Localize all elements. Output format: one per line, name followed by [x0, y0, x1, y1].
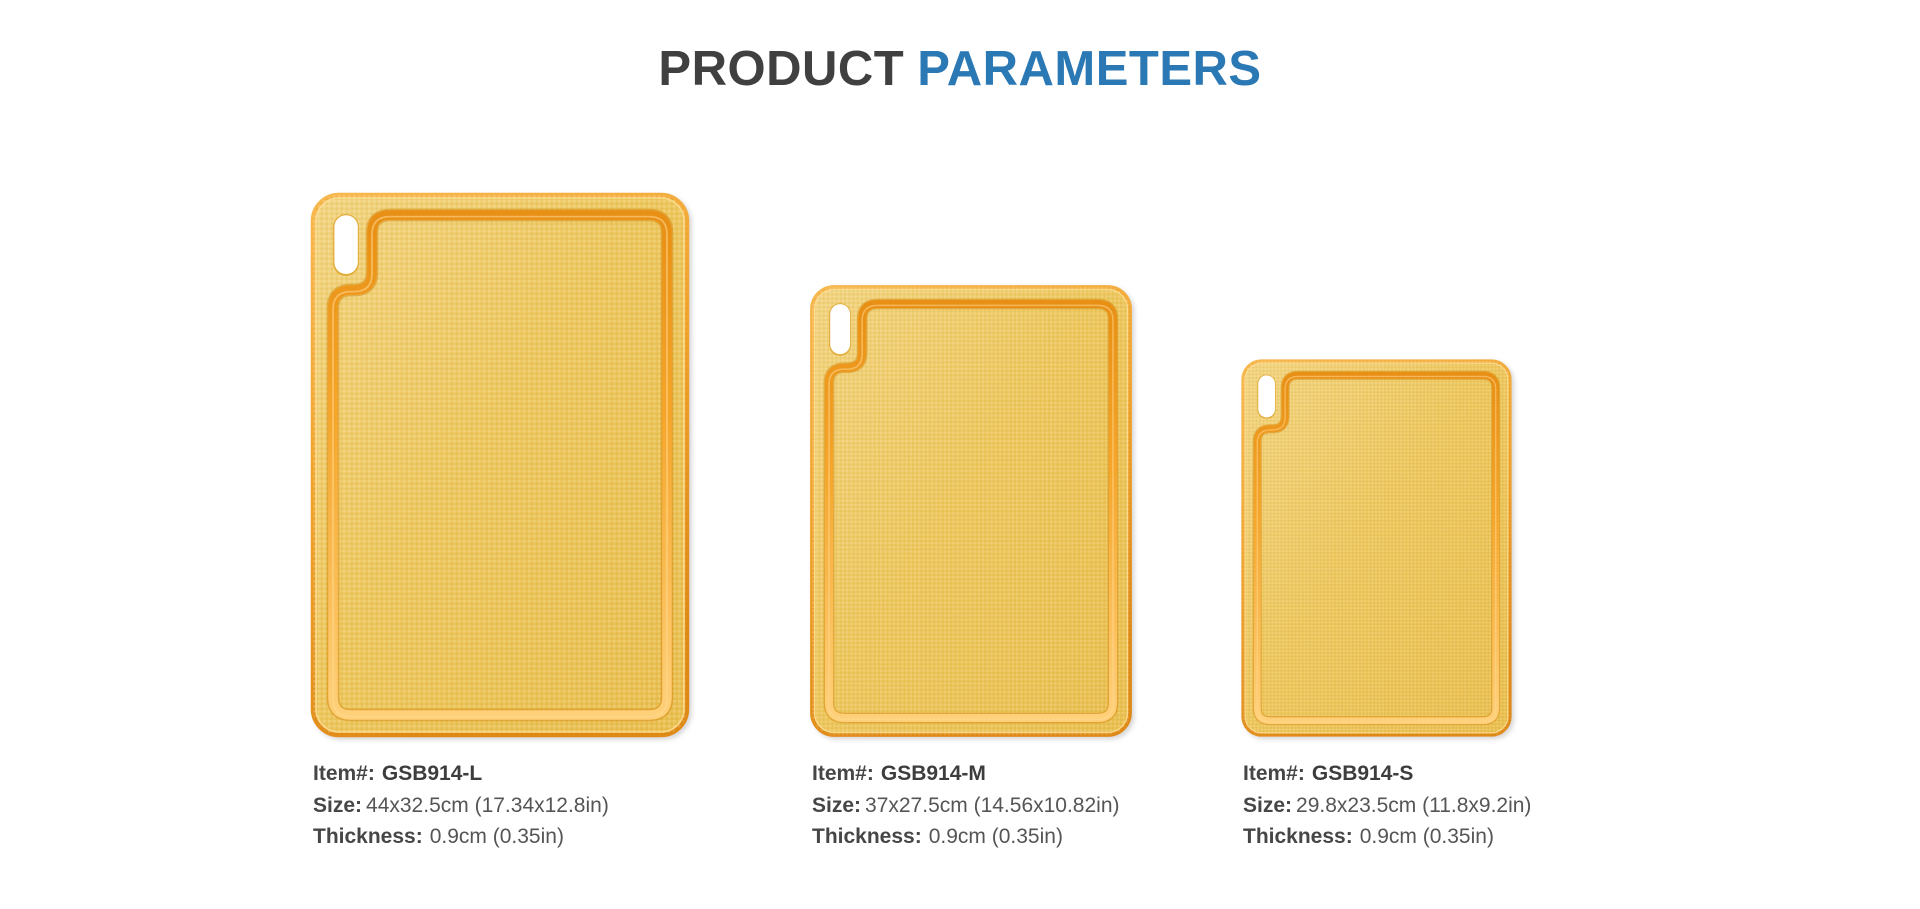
item-number-label: Item#: [1243, 762, 1305, 785]
thickness-value: 0.9cm (0.35in) [929, 825, 1063, 848]
size-label: Size: [313, 794, 362, 817]
product-parameters-page: PRODUCTPARAMETERS [0, 0, 1920, 909]
item-number-value: GSB914-L [382, 762, 482, 785]
spec-item-number: Item#:GSB914-S [1243, 758, 1531, 790]
size-value: 44x32.5cm (17.34x12.8in) [366, 794, 609, 817]
cutting-board-large [313, 195, 695, 743]
size-label: Size: [812, 794, 861, 817]
item-number-label: Item#: [313, 762, 375, 785]
spec-item-number: Item#:GSB914-L [313, 758, 609, 790]
product-item-small: Item#:GSB914-S Size:29.8x23.5cm (11.8x9.… [1243, 0, 1723, 909]
spec-size: Size:44x32.5cm (17.34x12.8in) [313, 790, 609, 822]
thickness-label: Thickness: [313, 825, 423, 848]
thickness-label: Thickness: [812, 825, 922, 848]
product-specs-small: Item#:GSB914-S Size:29.8x23.5cm (11.8x9.… [1243, 758, 1531, 853]
thickness-label: Thickness: [1243, 825, 1353, 848]
product-specs-medium: Item#:GSB914-M Size:37x27.5cm (14.56x10.… [812, 758, 1120, 853]
size-label: Size: [1243, 794, 1292, 817]
item-number-value: GSB914-S [1312, 762, 1414, 785]
product-item-large: Item#:GSB914-L Size:44x32.5cm (17.34x12.… [313, 0, 793, 909]
size-value: 37x27.5cm (14.56x10.82in) [865, 794, 1120, 817]
cutting-board-small [1243, 361, 1518, 743]
spec-thickness: Thickness:0.9cm (0.35in) [313, 821, 609, 853]
cutting-board-medium [812, 287, 1138, 743]
thickness-value: 0.9cm (0.35in) [1360, 825, 1494, 848]
item-number-value: GSB914-M [881, 762, 986, 785]
product-specs-large: Item#:GSB914-L Size:44x32.5cm (17.34x12.… [313, 758, 609, 853]
product-item-medium: Item#:GSB914-M Size:37x27.5cm (14.56x10.… [812, 0, 1292, 909]
item-number-label: Item#: [812, 762, 874, 785]
spec-size: Size:37x27.5cm (14.56x10.82in) [812, 790, 1120, 822]
product-gallery: Item#:GSB914-L Size:44x32.5cm (17.34x12.… [0, 0, 1920, 909]
spec-size: Size:29.8x23.5cm (11.8x9.2in) [1243, 790, 1531, 822]
size-value: 29.8x23.5cm (11.8x9.2in) [1296, 794, 1531, 817]
thickness-value: 0.9cm (0.35in) [430, 825, 564, 848]
spec-item-number: Item#:GSB914-M [812, 758, 1120, 790]
spec-thickness: Thickness:0.9cm (0.35in) [812, 821, 1120, 853]
spec-thickness: Thickness:0.9cm (0.35in) [1243, 821, 1531, 853]
